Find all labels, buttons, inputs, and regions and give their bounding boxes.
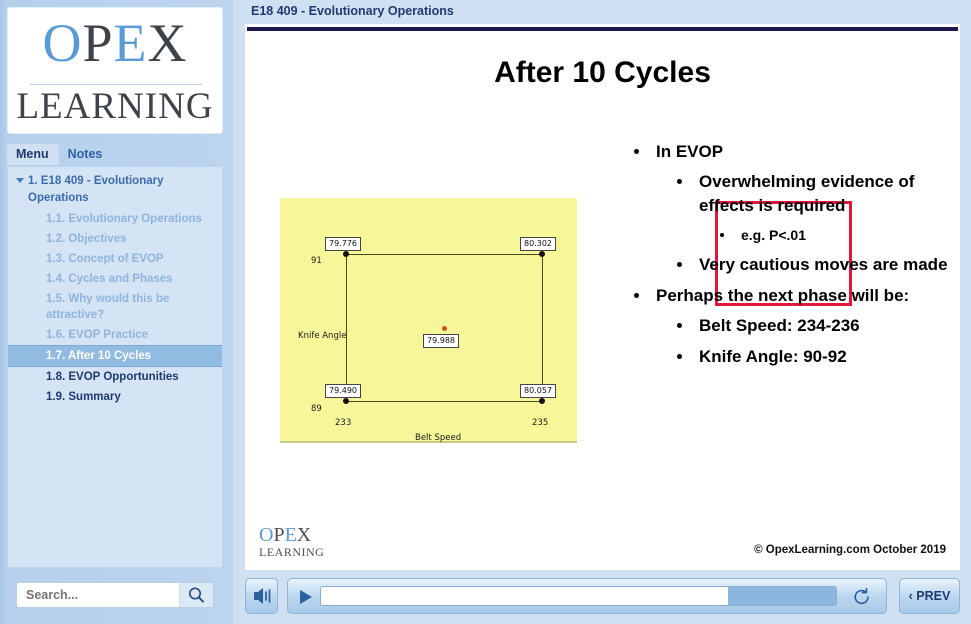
slide-footer-logo: OPEX LEARNING <box>259 525 324 558</box>
bullet-dot-icon <box>634 293 639 298</box>
prev-button-label: ‹ PREV <box>900 589 959 603</box>
x-axis-label: Belt Speed <box>415 433 461 443</box>
page-title: After 10 Cycles <box>245 56 960 90</box>
bullet-text: Overwhelming evidence of effects is requ… <box>699 172 914 215</box>
bullet-text: Perhaps the next phase will be: <box>656 286 909 305</box>
bullet-list: In EVOPOverwhelming evidence of effects … <box>610 140 950 376</box>
chart-edge-bottom <box>346 401 542 402</box>
logo-learning-wordmark: LEARNING <box>8 88 222 125</box>
replay-button[interactable] <box>852 587 872 607</box>
chart-edge-right <box>542 254 543 402</box>
bullet-text: Very cautious moves are made <box>699 255 948 274</box>
y-tick-low: 89 <box>311 404 322 414</box>
slide-top-rule <box>247 27 958 31</box>
search-box <box>16 582 214 608</box>
bullet-item-5: Perhaps the next phase will be: <box>610 284 950 307</box>
bullet-item-6: Belt Speed: 234-236 <box>610 314 950 338</box>
y-axis-label: Knife Angle <box>298 331 346 341</box>
x-tick-high: 235 <box>532 418 548 428</box>
sidebar: OPEX LEARNING Menu Notes 1. E18 409 - Ev… <box>0 0 233 624</box>
chart-edge-left <box>346 254 347 402</box>
sidebar-item-4[interactable]: 1.4. Cycles and Phases <box>8 269 222 289</box>
search-button[interactable] <box>179 583 213 607</box>
chart-point-bottom-left <box>343 398 349 404</box>
progress-bar-fill <box>728 587 836 605</box>
play-icon[interactable] <box>300 590 312 604</box>
bullet-item-4: Very cautious moves are made <box>610 253 950 277</box>
progress-bar[interactable] <box>320 586 837 606</box>
tab-notes[interactable]: Notes <box>59 144 113 165</box>
logo-opex-wordmark: OPEX <box>8 16 222 70</box>
sidebar-item-9[interactable]: 1.9. Summary <box>8 387 222 407</box>
content-area: E18 409 - Evolutionary Operations After … <box>233 0 971 624</box>
bullet-dot-icon <box>677 179 682 184</box>
sidebar-item-7[interactable]: 1.7. After 10 Cycles <box>8 345 222 367</box>
footer-logo-letter-o: O <box>259 524 273 546</box>
bullet-dot-icon <box>634 149 639 154</box>
volume-icon <box>246 579 277 613</box>
course-player-window: OPEX LEARNING Menu Notes 1. E18 409 - Ev… <box>0 0 971 624</box>
bullet-text: Knife Angle: 90-92 <box>699 347 847 366</box>
breadcrumb: E18 409 - Evolutionary Operations <box>251 4 454 18</box>
copyright-notice: © OpexLearning.com October 2019 <box>754 544 946 556</box>
outline-root-item[interactable]: 1. E18 409 - Evolutionary Operations <box>8 167 222 209</box>
chart-value-top-right: 80.302 <box>520 237 556 251</box>
chevron-down-icon[interactable] <box>16 178 24 183</box>
brand-logo: OPEX LEARNING <box>7 7 223 134</box>
logo-letter-x: X <box>148 13 188 73</box>
bullet-item-3: e.g. P<.01 <box>610 225 950 246</box>
bullet-item-7: Knife Angle: 90-92 <box>610 345 950 369</box>
slide-canvas: After 10 Cycles 79.776 80.302 79.490 80.… <box>245 24 960 570</box>
chart-point-bottom-right <box>539 398 545 404</box>
sidebar-tabs: Menu Notes <box>7 144 223 166</box>
chart-point-top-left <box>343 251 349 257</box>
bullet-text: Belt Speed: 234-236 <box>699 316 860 335</box>
logo-letter-o: O <box>42 13 82 73</box>
evop-factor-chart: 79.776 80.302 79.490 80.057 79.988 91 89… <box>280 198 577 443</box>
sidebar-item-5[interactable]: 1.5. Why would this be attractive? <box>8 289 222 325</box>
footer-logo-learning: LEARNING <box>259 546 324 558</box>
search-icon <box>180 583 214 607</box>
sidebar-item-3[interactable]: 1.3. Concept of EVOP <box>8 249 222 269</box>
bullet-dot-icon <box>720 233 724 237</box>
chart-value-bottom-right: 80.057 <box>520 384 556 398</box>
logo-divider <box>30 84 202 85</box>
footer-logo-letter-e: E <box>285 524 297 546</box>
outline-item-list: 1.1. Evolutionary Operations1.2. Objecti… <box>8 209 222 407</box>
logo-letter-p: P <box>82 13 113 73</box>
sidebar-item-8[interactable]: 1.8. EVOP Opportunities <box>8 367 222 387</box>
bullet-text: In EVOP <box>656 142 723 161</box>
bullet-dot-icon <box>677 354 682 359</box>
search-input[interactable] <box>17 583 177 607</box>
media-player-bar: ‹ PREV <box>245 578 960 616</box>
chart-point-top-right <box>539 251 545 257</box>
course-outline-panel: 1. E18 409 - Evolutionary Operations 1.1… <box>7 166 223 568</box>
bullet-item-1: In EVOP <box>610 140 950 163</box>
replay-icon <box>852 587 872 607</box>
chart-value-top-left: 79.776 <box>325 237 361 251</box>
logo-letter-e: E <box>114 13 148 73</box>
footer-logo-opex: OPEX <box>259 525 324 545</box>
chart-value-bottom-left: 79.490 <box>325 384 361 398</box>
chart-edge-top <box>346 254 542 255</box>
sidebar-item-6[interactable]: 1.6. EVOP Practice <box>8 325 222 345</box>
sidebar-item-1[interactable]: 1.1. Evolutionary Operations <box>8 209 222 229</box>
prev-button[interactable]: ‹ PREV <box>899 578 960 614</box>
bullet-dot-icon <box>677 323 682 328</box>
transport-controls <box>287 578 887 614</box>
bullet-dot-icon <box>677 262 682 267</box>
x-tick-low: 233 <box>335 418 351 428</box>
chart-value-center: 79.988 <box>423 334 459 348</box>
sidebar-item-2[interactable]: 1.2. Objectives <box>8 229 222 249</box>
chart-point-center <box>442 326 447 331</box>
volume-button[interactable] <box>245 578 278 614</box>
y-tick-high: 91 <box>311 256 322 266</box>
outline-root-label: 1. E18 409 - Evolutionary Operations <box>28 175 164 204</box>
bullet-text: e.g. P<.01 <box>741 227 806 243</box>
tab-menu[interactable]: Menu <box>7 144 59 165</box>
bullet-item-2: Overwhelming evidence of effects is requ… <box>610 170 950 218</box>
